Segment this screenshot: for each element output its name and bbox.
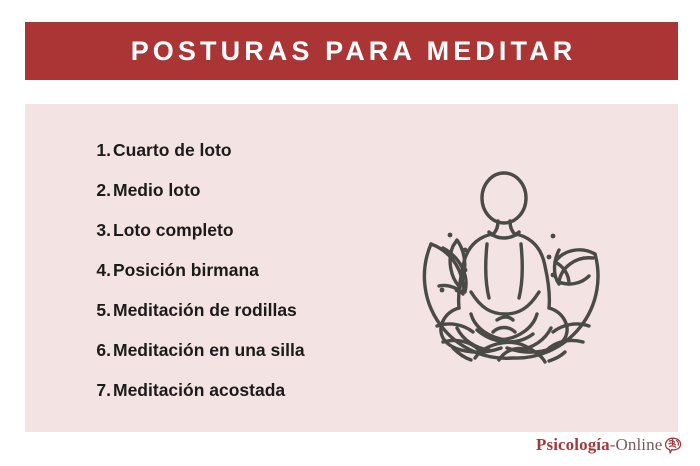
list-item-label: Meditación de rodillas <box>113 300 297 321</box>
brain-icon <box>663 434 685 456</box>
list-item-label: Cuarto de loto <box>113 140 232 161</box>
infographic-canvas: POSTURAS PARA MEDITAR 1. Cuarto de loto … <box>0 0 700 466</box>
list-item: 7. Meditación acostada <box>85 370 405 410</box>
list-item: 4. Posición birmana <box>85 250 405 290</box>
list-item-label: Loto completo <box>113 220 234 241</box>
list-item-number: 2. <box>85 180 111 201</box>
content-panel: 1. Cuarto de loto 2. Medio loto 3. Loto … <box>25 104 678 432</box>
list-item-number: 3. <box>85 220 111 241</box>
list-item: 1. Cuarto de loto <box>85 130 405 170</box>
logo-brand-text: Psicología <box>536 435 610 455</box>
list-item-label: Meditación acostada <box>113 380 285 401</box>
postures-list: 1. Cuarto de loto 2. Medio loto 3. Loto … <box>85 130 405 410</box>
logo-suffix-text: -Online <box>610 435 663 455</box>
list-item: 2. Medio loto <box>85 170 405 210</box>
list-item: 3. Loto completo <box>85 210 405 250</box>
list-item-number: 1. <box>85 140 111 161</box>
list-item-number: 5. <box>85 300 111 321</box>
site-logo[interactable]: Psicología -Online <box>536 433 685 457</box>
list-item-label: Posición birmana <box>113 260 259 281</box>
page-title: POSTURAS PARA MEDITAR <box>127 38 577 65</box>
list-item-label: Medio loto <box>113 180 200 201</box>
list-item-number: 6. <box>85 340 111 361</box>
list-item-label: Meditación en una silla <box>113 340 305 361</box>
title-bar: POSTURAS PARA MEDITAR <box>25 22 678 80</box>
list-item: 6. Meditación en una silla <box>85 330 405 370</box>
list-item: 5. Meditación de rodillas <box>85 290 405 330</box>
list-item-number: 7. <box>85 380 111 401</box>
meditation-illustration <box>413 162 613 372</box>
list-item-number: 4. <box>85 260 111 281</box>
